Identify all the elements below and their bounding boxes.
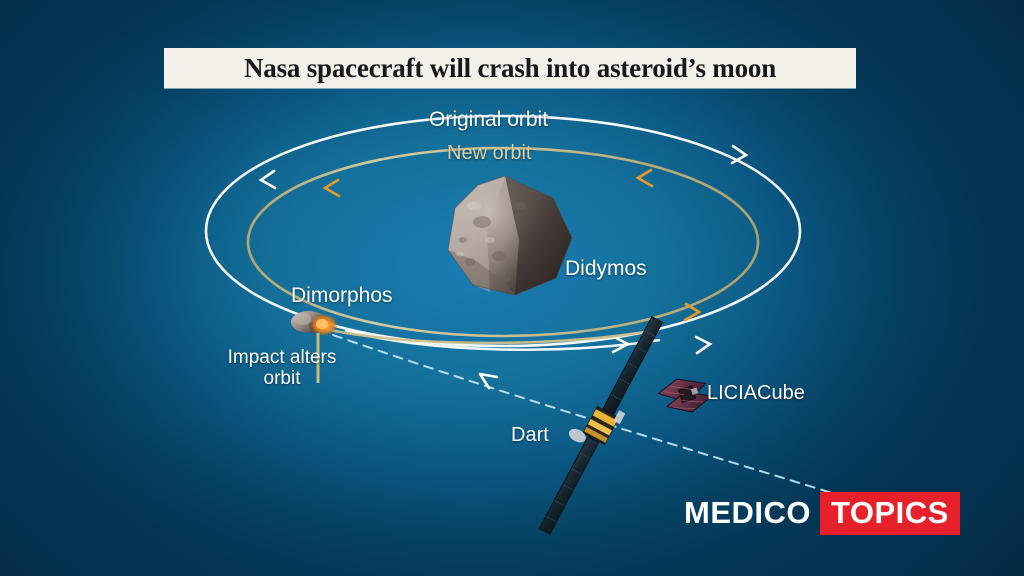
logo-topics-box: TOPICS	[820, 492, 960, 535]
medicotopics-logo: MEDICO TOPICS	[684, 493, 960, 533]
infographic-canvas: Nasa spacecraft will crash into asteroid…	[0, 0, 1024, 576]
label-original-orbit: Original orbit	[429, 108, 548, 132]
label-dimorphos: Dimorphos	[291, 284, 393, 308]
label-liciacube: LICIACube	[707, 382, 805, 404]
logo-word-topics: TOPICS	[831, 495, 949, 531]
liciacube-spacecraft	[656, 370, 715, 420]
label-dart: Dart	[511, 424, 549, 446]
trajectory-arrow-icon	[480, 374, 497, 388]
label-new-orbit: New orbit	[447, 142, 531, 164]
didymos-asteroid	[448, 176, 572, 295]
dart-trajectory	[330, 334, 845, 497]
label-didymos: Didymos	[565, 257, 647, 281]
headline-text: Nasa spacecraft will crash into asteroid…	[244, 53, 776, 84]
headline-banner: Nasa spacecraft will crash into asteroid…	[164, 48, 856, 88]
label-impact-alters-orbit: Impact alters orbit	[216, 347, 348, 390]
logo-word-medico: MEDICO	[684, 495, 820, 531]
dimorphos-moon	[291, 311, 338, 336]
